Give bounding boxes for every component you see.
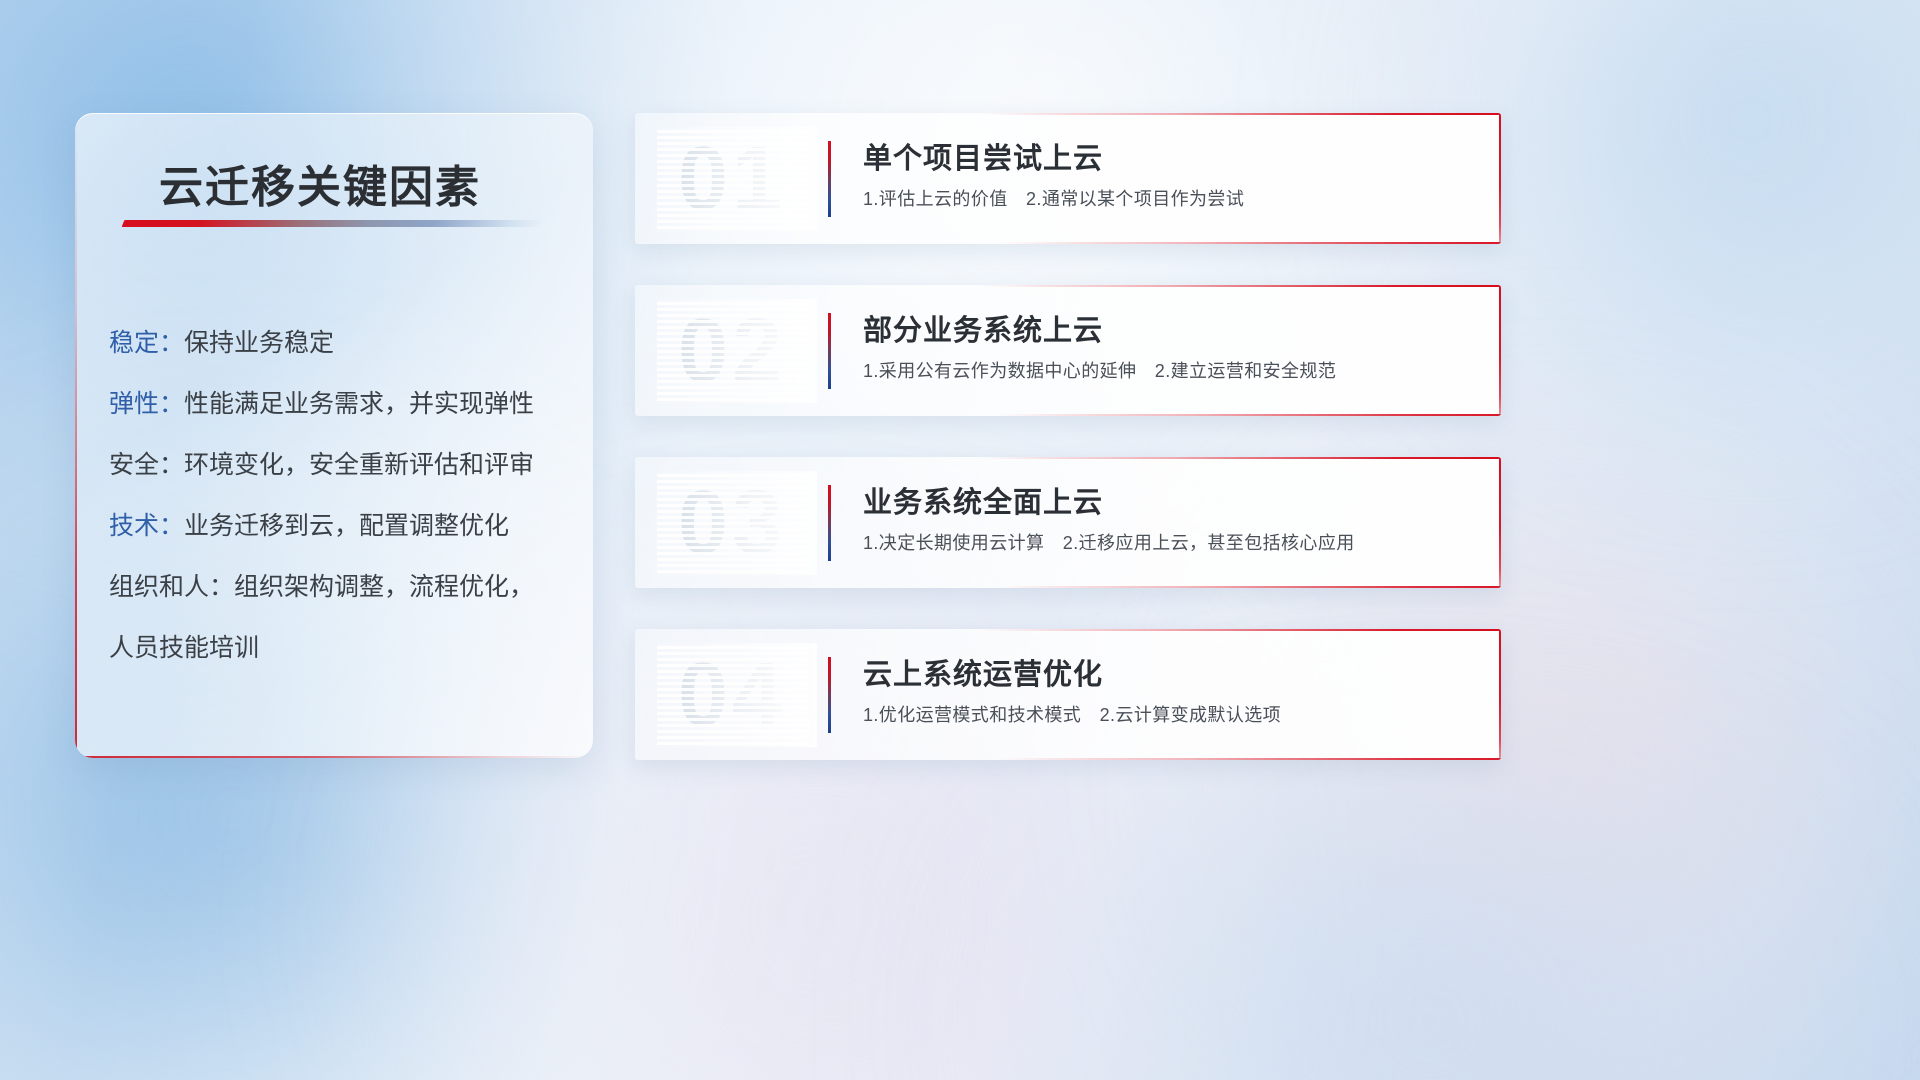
card-divider-bar <box>828 313 831 389</box>
card-title-03: 业务系统全面上云 <box>863 479 1103 521</box>
card-title-04: 云上系统运营优化 <box>863 651 1103 693</box>
card-bottom-accent <box>635 242 1501 244</box>
card-bottom-accent <box>635 586 1501 588</box>
card-divider-bar <box>828 141 831 217</box>
factor-row-organization-continued: 人员技能培训 <box>109 618 571 679</box>
card-top-accent <box>635 457 1501 459</box>
stage-number-stripe-overlay <box>657 299 807 403</box>
card-right-accent <box>1499 113 1501 244</box>
stage-number-03: 03 <box>657 471 807 575</box>
factor-text-elasticity: 性能满足业务需求，并实现弹性 <box>184 390 534 418</box>
page-title: 云迁移关键因素 <box>159 151 481 215</box>
migration-stage-card-list: 01 单个项目尝试上云 1.评估上云的价值 2.通常以某个项目作为尝试 02 部… <box>635 113 1501 801</box>
stage-number-fade-overlay <box>657 643 817 747</box>
factor-row-stability: 稳定：保持业务稳定 <box>109 313 571 374</box>
card-bottom-accent <box>635 758 1501 760</box>
card-subtitle-02: 1.采用公有云作为数据中心的延伸 2.建立运营和安全规范 <box>863 357 1336 383</box>
factor-label-organization: 组织和人： <box>109 573 234 601</box>
factor-row-technology: 技术：业务迁移到云，配置调整优化 <box>109 496 571 557</box>
card-right-accent <box>1499 285 1501 416</box>
factor-text-organization: 组织架构调整，流程优化， <box>234 573 534 601</box>
card-subtitle-03: 1.决定长期使用云计算 2.迁移应用上云，甚至包括核心应用 <box>863 529 1355 555</box>
stage-number-02: 02 <box>657 299 807 403</box>
factor-label-elasticity: 弹性： <box>109 390 184 418</box>
card-right-accent <box>1499 457 1501 588</box>
factor-label-security: 安全： <box>109 451 184 479</box>
factor-text-stability: 保持业务稳定 <box>184 329 334 357</box>
card-top-accent <box>635 629 1501 631</box>
factor-row-elasticity: 弹性：性能满足业务需求，并实现弹性 <box>109 374 571 435</box>
stage-number-fade-overlay <box>657 127 817 231</box>
card-subtitle-01: 1.评估上云的价值 2.通常以某个项目作为尝试 <box>863 185 1244 211</box>
migration-stage-card-03[interactable]: 03 业务系统全面上云 1.决定长期使用云计算 2.迁移应用上云，甚至包括核心应… <box>635 457 1501 588</box>
card-top-accent <box>635 285 1501 287</box>
card-right-accent <box>1499 629 1501 760</box>
migration-stage-card-02[interactable]: 02 部分业务系统上云 1.采用公有云作为数据中心的延伸 2.建立运营和安全规范 <box>635 285 1501 416</box>
migration-stage-card-01[interactable]: 01 单个项目尝试上云 1.评估上云的价值 2.通常以某个项目作为尝试 <box>635 113 1501 244</box>
title-underline-accent <box>122 220 545 227</box>
key-factors-panel: 云迁移关键因素 稳定：保持业务稳定 弹性：性能满足业务需求，并实现弹性 安全：环… <box>75 113 593 758</box>
card-title-02: 部分业务系统上云 <box>863 307 1103 349</box>
card-top-accent <box>635 113 1501 115</box>
stage-number-01: 01 <box>657 127 807 231</box>
factor-label-technology: 技术： <box>109 512 184 540</box>
stage-number-stripe-overlay <box>657 471 807 575</box>
factor-text-technology: 业务迁移到云，配置调整优化 <box>184 512 509 540</box>
migration-stage-card-04[interactable]: 04 云上系统运营优化 1.优化运营模式和技术模式 2.云计算变成默认选项 <box>635 629 1501 760</box>
factor-text-security: 环境变化，安全重新评估和评审 <box>184 451 534 479</box>
stage-number-fade-overlay <box>657 471 817 575</box>
stage-number-stripe-overlay <box>657 127 807 231</box>
card-bottom-accent <box>635 414 1501 416</box>
stage-number-stripe-overlay <box>657 643 807 747</box>
factor-label-stability: 稳定： <box>109 329 184 357</box>
stage-number-04: 04 <box>657 643 807 747</box>
card-subtitle-04: 1.优化运营模式和技术模式 2.云计算变成默认选项 <box>863 701 1281 727</box>
factor-row-security: 安全：环境变化，安全重新评估和评审 <box>109 435 571 496</box>
card-divider-bar <box>828 657 831 733</box>
card-divider-bar <box>828 485 831 561</box>
stage-number-fade-overlay <box>657 299 817 403</box>
factor-text-organization-continued: 人员技能培训 <box>109 634 259 662</box>
card-title-01: 单个项目尝试上云 <box>863 135 1103 177</box>
factor-list: 稳定：保持业务稳定 弹性：性能满足业务需求，并实现弹性 安全：环境变化，安全重新… <box>109 313 571 679</box>
factor-row-organization: 组织和人：组织架构调整，流程优化， <box>109 557 571 618</box>
